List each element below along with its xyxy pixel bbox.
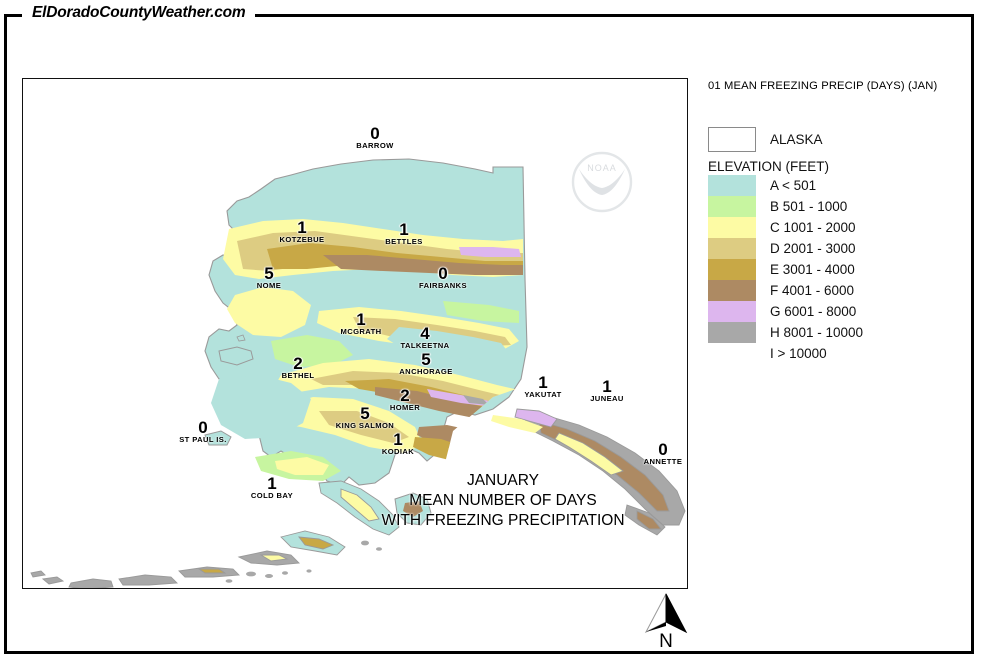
site-title: ElDoradoCountyWeather.com: [32, 4, 245, 22]
north-arrow-label: N: [634, 633, 698, 650]
island-nunivak: [205, 431, 231, 445]
legend-swatch-a: [708, 175, 756, 196]
legend-title: 01 MEAN FREEZING PRECIP (DAYS) (JAN): [708, 80, 970, 92]
legend-swatch-g: [708, 301, 756, 322]
legend-swatch-i: [708, 343, 756, 364]
legend-label-d: D 2001 - 3000: [770, 241, 856, 256]
screenshot-root: ElDoradoCountyWeather.com: [0, 0, 981, 660]
legend-row-class-g[interactable]: G 6001 - 8000: [708, 301, 970, 322]
legend-swatch-d: [708, 238, 756, 259]
legend-swatch-b: [708, 196, 756, 217]
mainland-alaska: [205, 159, 527, 485]
legend-row-class-a[interactable]: A < 501: [708, 175, 970, 196]
legend-label-a: A < 501: [770, 178, 816, 193]
elev-band-G-brooks: [459, 247, 521, 257]
legend-label-b: B 501 - 1000: [770, 199, 847, 214]
north-arrow: N: [634, 592, 698, 654]
legend-row-class-h[interactable]: H 8001 - 10000: [708, 322, 970, 343]
legend-label-g: G 6001 - 8000: [770, 304, 856, 319]
legend-panel: 01 MEAN FREEZING PRECIP (DAYS) (JAN) ALA…: [708, 80, 970, 364]
legend-row-class-i[interactable]: I > 10000: [708, 343, 970, 364]
legend-body: ALASKA ELEVATION (FEET) A < 501 B 501 - …: [708, 126, 970, 364]
map-caption: JANUARY MEAN NUMBER OF DAYS WITH FREEZIN…: [353, 471, 653, 530]
legend-label-e: E 3001 - 4000: [770, 262, 855, 277]
legend-row-class-b[interactable]: B 501 - 1000: [708, 196, 970, 217]
aleutian-chain: [31, 481, 399, 588]
svg-text:NOAA: NOAA: [587, 163, 617, 173]
legend-label-i: I > 10000: [770, 346, 827, 361]
legend-swatch-alaska: [708, 127, 756, 152]
legend-swatch-c: [708, 217, 756, 238]
legend-row-alaska[interactable]: ALASKA: [708, 126, 970, 153]
legend-elevation-header: ELEVATION (FEET): [708, 159, 970, 174]
legend-label-c: C 1001 - 2000: [770, 220, 856, 235]
elev-band-E-kenai: [413, 437, 475, 461]
noaa-seal-icon: NOAA: [571, 151, 633, 213]
site-title-notch: ElDoradoCountyWeather.com: [22, 0, 255, 26]
legend-swatch-h: [708, 322, 756, 343]
legend-label-h: H 8001 - 10000: [770, 325, 863, 340]
map-caption-line-1: JANUARY: [353, 471, 653, 491]
map-caption-line-3: WITH FREEZING PRECIPITATION: [353, 511, 653, 531]
legend-swatch-e: [708, 259, 756, 280]
legend-row-class-e[interactable]: E 3001 - 4000: [708, 259, 970, 280]
legend-row-class-d[interactable]: D 2001 - 3000: [708, 238, 970, 259]
north-arrow-icon: [643, 592, 689, 636]
legend-label-alaska: ALASKA: [770, 132, 823, 147]
legend-row-class-c[interactable]: C 1001 - 2000: [708, 217, 970, 238]
map-caption-line-2: MEAN NUMBER OF DAYS: [353, 491, 653, 511]
map-panel[interactable]: NOAA 0 BARROW 1 KOTZEBUE 1 BETTLES 5 NOM…: [22, 78, 688, 589]
legend-row-class-f[interactable]: F 4001 - 6000: [708, 280, 970, 301]
legend-label-f: F 4001 - 6000: [770, 283, 854, 298]
legend-swatch-f: [708, 280, 756, 301]
